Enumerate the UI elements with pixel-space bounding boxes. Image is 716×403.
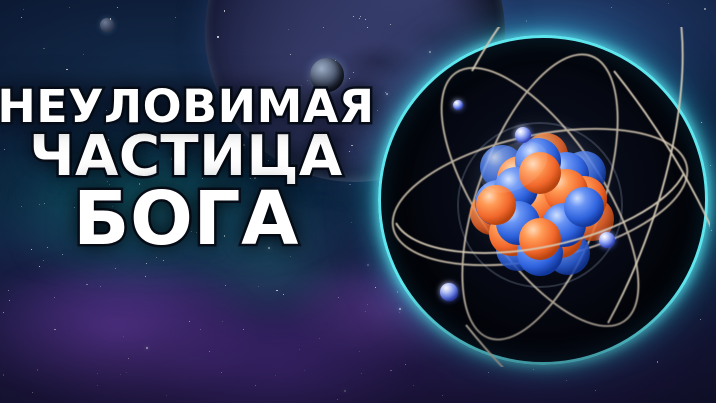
poster-canvas: НЕУЛОВИМАЯ ЧАСТИЦА БОГА — [0, 0, 716, 403]
electron-upper-left — [453, 100, 463, 110]
electron-lower-left — [440, 283, 458, 301]
headline-line-3: БОГА — [0, 185, 372, 253]
electron-right — [599, 232, 615, 248]
atom-vector — [370, 27, 710, 367]
headline-line-1: НЕУЛОВИМАЯ — [0, 86, 376, 127]
headline-block: НЕУЛОВИМАЯ ЧАСТИЦА БОГА — [0, 86, 372, 253]
nucleus — [458, 123, 622, 287]
electron-upper-mid — [515, 127, 531, 143]
atom-illustration — [370, 27, 710, 367]
